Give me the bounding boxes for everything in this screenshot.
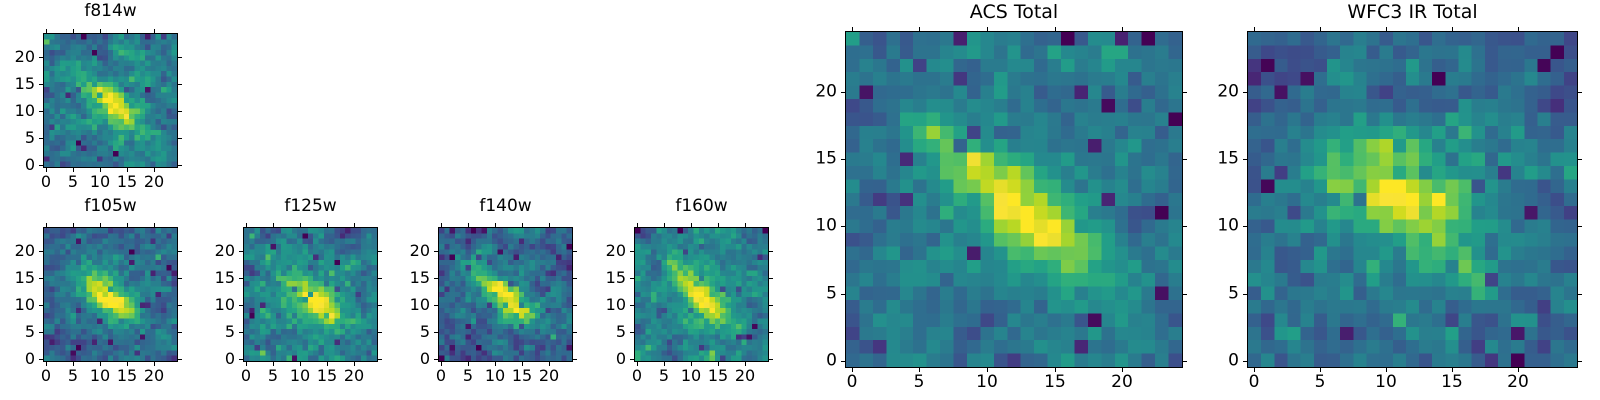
y-ticklabel-f140w-0: 0 (368, 351, 430, 367)
y-tick-acs-total-0 (841, 361, 845, 362)
y-ticklabel-f105w-2: 10 (0, 297, 35, 313)
y-tick-acs-total-1 (841, 294, 845, 295)
y-ticklabel-f160w-0: 0 (564, 351, 626, 367)
y-tick-f814w-3 (39, 84, 43, 85)
y-ticklabel-f140w-1: 5 (368, 324, 430, 340)
panel-title-acs-total: ACS Total (845, 3, 1183, 22)
heatmap-image-f125w (244, 228, 377, 361)
x-ticklabel-f125w-0: 0 (241, 368, 251, 384)
y-tick-wfc3-ir-total-3 (1243, 159, 1247, 160)
panel-title-wfc3-ir-total: WFC3 IR Total (1247, 3, 1578, 22)
x-ticklabel-acs-total-3: 15 (1044, 374, 1066, 391)
x-ticklabel-f160w-0: 0 (632, 368, 642, 384)
y-ticklabel-f814w-1: 5 (0, 130, 35, 146)
x-tick-top-f125w-4 (354, 223, 355, 227)
y-tick-right-f160w-4 (769, 251, 773, 252)
y-tick-f160w-1 (630, 332, 634, 333)
x-tick-top-acs-total-3 (1055, 27, 1056, 31)
x-tick-top-wfc3-ir-total-1 (1320, 27, 1321, 31)
y-tick-f125w-1 (239, 332, 243, 333)
x-tick-top-f160w-4 (745, 223, 746, 227)
y-tick-acs-total-4 (841, 92, 845, 93)
y-ticklabel-f814w-2: 10 (0, 103, 35, 119)
y-ticklabel-acs-total-3: 15 (775, 151, 837, 168)
y-tick-right-wfc3-ir-total-2 (1578, 226, 1582, 227)
x-tick-top-acs-total-1 (919, 27, 920, 31)
x-tick-top-wfc3-ir-total-2 (1386, 27, 1387, 31)
y-ticklabel-f814w-0: 0 (0, 157, 35, 173)
x-ticklabel-f125w-3: 15 (317, 368, 337, 384)
y-ticklabel-f105w-0: 0 (0, 351, 35, 367)
y-ticklabel-wfc3-ir-total-1: 5 (1177, 286, 1239, 303)
x-ticklabel-acs-total-0: 0 (847, 374, 858, 391)
heatmap-axes-f125w (243, 227, 378, 362)
x-ticklabel-f105w-4: 20 (144, 368, 164, 384)
panel-title-f814w: f814w (43, 3, 178, 20)
y-tick-wfc3-ir-total-2 (1243, 226, 1247, 227)
x-tick-top-f140w-1 (468, 223, 469, 227)
y-ticklabel-acs-total-1: 5 (775, 286, 837, 303)
heatmap-image-f814w (44, 34, 177, 167)
x-tick-top-f814w-4 (154, 29, 155, 33)
y-ticklabel-f105w-1: 5 (0, 324, 35, 340)
x-tick-top-f140w-0 (441, 223, 442, 227)
y-ticklabel-wfc3-ir-total-2: 10 (1177, 218, 1239, 235)
y-tick-f160w-2 (630, 305, 634, 306)
panel-title-f105w: f105w (43, 198, 178, 215)
x-tick-top-f105w-2 (100, 223, 101, 227)
x-tick-top-f105w-4 (154, 223, 155, 227)
heatmap-axes-f160w (634, 227, 769, 362)
x-ticklabel-acs-total-1: 5 (914, 374, 925, 391)
y-ticklabel-wfc3-ir-total-4: 20 (1177, 84, 1239, 101)
x-tick-top-f160w-2 (691, 223, 692, 227)
x-tick-top-f125w-0 (246, 223, 247, 227)
x-ticklabel-f105w-3: 15 (117, 368, 137, 384)
y-tick-f160w-4 (630, 251, 634, 252)
y-ticklabel-f160w-2: 10 (564, 297, 626, 313)
y-tick-f814w-0 (39, 165, 43, 166)
heatmap-image-f105w (44, 228, 177, 361)
panel-title-f125w: f125w (243, 198, 378, 215)
y-tick-right-wfc3-ir-total-4 (1578, 92, 1582, 93)
heatmap-image-wfc3-ir-total (1248, 32, 1577, 367)
y-tick-wfc3-ir-total-0 (1243, 361, 1247, 362)
x-ticklabel-wfc3-ir-total-4: 20 (1507, 374, 1529, 391)
x-tick-top-f140w-3 (522, 223, 523, 227)
y-tick-right-f160w-2 (769, 305, 773, 306)
y-tick-f160w-0 (630, 359, 634, 360)
x-ticklabel-f814w-4: 20 (144, 174, 164, 190)
y-tick-right-f160w-1 (769, 332, 773, 333)
y-ticklabel-wfc3-ir-total-0: 0 (1177, 353, 1239, 370)
x-ticklabel-f814w-0: 0 (41, 174, 51, 190)
x-ticklabel-f140w-0: 0 (436, 368, 446, 384)
y-ticklabel-f160w-1: 5 (564, 324, 626, 340)
y-tick-right-f814w-2 (178, 111, 182, 112)
y-ticklabel-f105w-3: 15 (0, 270, 35, 286)
x-tick-top-f125w-3 (327, 223, 328, 227)
heatmap-image-acs-total (846, 32, 1182, 367)
x-ticklabel-f105w-0: 0 (41, 368, 51, 384)
y-tick-f814w-1 (39, 138, 43, 139)
y-ticklabel-f125w-3: 15 (173, 270, 235, 286)
x-ticklabel-f105w-1: 5 (68, 368, 78, 384)
y-tick-acs-total-3 (841, 159, 845, 160)
y-tick-right-f814w-0 (178, 165, 182, 166)
heatmap-axes-f814w (43, 33, 178, 168)
y-tick-right-f814w-4 (178, 57, 182, 58)
x-ticklabel-wfc3-ir-total-0: 0 (1249, 374, 1260, 391)
y-tick-f140w-2 (434, 305, 438, 306)
x-ticklabel-f160w-3: 15 (708, 368, 728, 384)
y-ticklabel-f160w-3: 15 (564, 270, 626, 286)
x-tick-top-f160w-0 (637, 223, 638, 227)
x-tick-top-f140w-2 (495, 223, 496, 227)
x-tick-top-f105w-3 (127, 223, 128, 227)
y-ticklabel-f140w-3: 15 (368, 270, 430, 286)
y-ticklabel-f105w-4: 20 (0, 243, 35, 259)
y-tick-wfc3-ir-total-4 (1243, 92, 1247, 93)
x-ticklabel-f125w-2: 10 (290, 368, 310, 384)
x-ticklabel-f140w-4: 20 (539, 368, 559, 384)
y-ticklabel-f125w-1: 5 (173, 324, 235, 340)
x-ticklabel-acs-total-4: 20 (1111, 374, 1133, 391)
y-tick-f160w-3 (630, 278, 634, 279)
x-tick-top-f814w-1 (73, 29, 74, 33)
y-ticklabel-f125w-0: 0 (173, 351, 235, 367)
y-ticklabel-f814w-4: 20 (0, 49, 35, 65)
y-ticklabel-f125w-2: 10 (173, 297, 235, 313)
x-ticklabel-wfc3-ir-total-2: 10 (1375, 374, 1397, 391)
x-tick-top-f160w-1 (664, 223, 665, 227)
x-tick-top-f125w-2 (300, 223, 301, 227)
y-tick-f125w-0 (239, 359, 243, 360)
x-ticklabel-f125w-1: 5 (268, 368, 278, 384)
x-ticklabel-wfc3-ir-total-1: 5 (1315, 374, 1326, 391)
x-tick-top-acs-total-0 (852, 27, 853, 31)
x-ticklabel-f814w-2: 10 (90, 174, 110, 190)
x-ticklabel-wfc3-ir-total-3: 15 (1441, 374, 1463, 391)
heatmap-axes-f105w (43, 227, 178, 362)
x-tick-top-f105w-1 (73, 223, 74, 227)
x-ticklabel-f125w-4: 20 (344, 368, 364, 384)
y-tick-right-f160w-3 (769, 278, 773, 279)
x-tick-top-wfc3-ir-total-0 (1254, 27, 1255, 31)
x-tick-top-wfc3-ir-total-3 (1452, 27, 1453, 31)
y-ticklabel-acs-total-2: 10 (775, 218, 837, 235)
y-tick-f125w-4 (239, 251, 243, 252)
heatmap-axes-f140w (438, 227, 573, 362)
x-tick-top-f814w-3 (127, 29, 128, 33)
y-tick-right-f814w-3 (178, 84, 182, 85)
x-tick-top-f814w-0 (46, 29, 47, 33)
x-tick-top-f140w-4 (549, 223, 550, 227)
y-ticklabel-wfc3-ir-total-3: 15 (1177, 151, 1239, 168)
y-tick-f105w-2 (39, 305, 43, 306)
y-tick-f814w-4 (39, 57, 43, 58)
y-ticklabel-f814w-3: 15 (0, 76, 35, 92)
y-ticklabel-f140w-4: 20 (368, 243, 430, 259)
y-tick-f125w-3 (239, 278, 243, 279)
panel-title-f140w: f140w (438, 198, 573, 215)
y-tick-right-f160w-0 (769, 359, 773, 360)
y-tick-f140w-0 (434, 359, 438, 360)
figure-canvas: f814w0510152005101520f105w05101520051015… (0, 0, 1600, 400)
x-tick-top-f125w-1 (273, 223, 274, 227)
panel-title-f160w: f160w (634, 198, 769, 215)
x-ticklabel-f140w-1: 5 (463, 368, 473, 384)
x-ticklabel-f160w-4: 20 (735, 368, 755, 384)
x-tick-top-acs-total-4 (1122, 27, 1123, 31)
y-tick-right-f814w-1 (178, 138, 182, 139)
x-tick-top-wfc3-ir-total-4 (1518, 27, 1519, 31)
y-tick-right-wfc3-ir-total-3 (1578, 159, 1582, 160)
y-tick-f105w-4 (39, 251, 43, 252)
x-ticklabel-f140w-3: 15 (512, 368, 532, 384)
y-ticklabel-f140w-2: 10 (368, 297, 430, 313)
x-ticklabel-f814w-1: 5 (68, 174, 78, 190)
y-tick-f105w-0 (39, 359, 43, 360)
x-tick-top-f160w-3 (718, 223, 719, 227)
y-tick-f105w-1 (39, 332, 43, 333)
y-ticklabel-f160w-4: 20 (564, 243, 626, 259)
heatmap-axes-wfc3-ir-total (1247, 31, 1578, 368)
y-tick-f140w-1 (434, 332, 438, 333)
y-tick-f105w-3 (39, 278, 43, 279)
y-ticklabel-acs-total-4: 20 (775, 84, 837, 101)
y-tick-f140w-3 (434, 278, 438, 279)
x-ticklabel-acs-total-2: 10 (976, 374, 998, 391)
x-tick-top-f105w-0 (46, 223, 47, 227)
y-tick-f140w-4 (434, 251, 438, 252)
y-tick-f814w-2 (39, 111, 43, 112)
heatmap-image-f160w (635, 228, 768, 361)
y-tick-acs-total-2 (841, 226, 845, 227)
x-tick-top-acs-total-2 (987, 27, 988, 31)
x-ticklabel-f105w-2: 10 (90, 368, 110, 384)
y-tick-right-wfc3-ir-total-0 (1578, 361, 1582, 362)
x-tick-top-f814w-2 (100, 29, 101, 33)
x-ticklabel-f814w-3: 15 (117, 174, 137, 190)
heatmap-axes-acs-total (845, 31, 1183, 368)
y-tick-f125w-2 (239, 305, 243, 306)
y-tick-wfc3-ir-total-1 (1243, 294, 1247, 295)
y-ticklabel-acs-total-0: 0 (775, 353, 837, 370)
y-tick-right-wfc3-ir-total-1 (1578, 294, 1582, 295)
heatmap-image-f140w (439, 228, 572, 361)
x-ticklabel-f140w-2: 10 (485, 368, 505, 384)
x-ticklabel-f160w-2: 10 (681, 368, 701, 384)
y-ticklabel-f125w-4: 20 (173, 243, 235, 259)
x-ticklabel-f160w-1: 5 (659, 368, 669, 384)
